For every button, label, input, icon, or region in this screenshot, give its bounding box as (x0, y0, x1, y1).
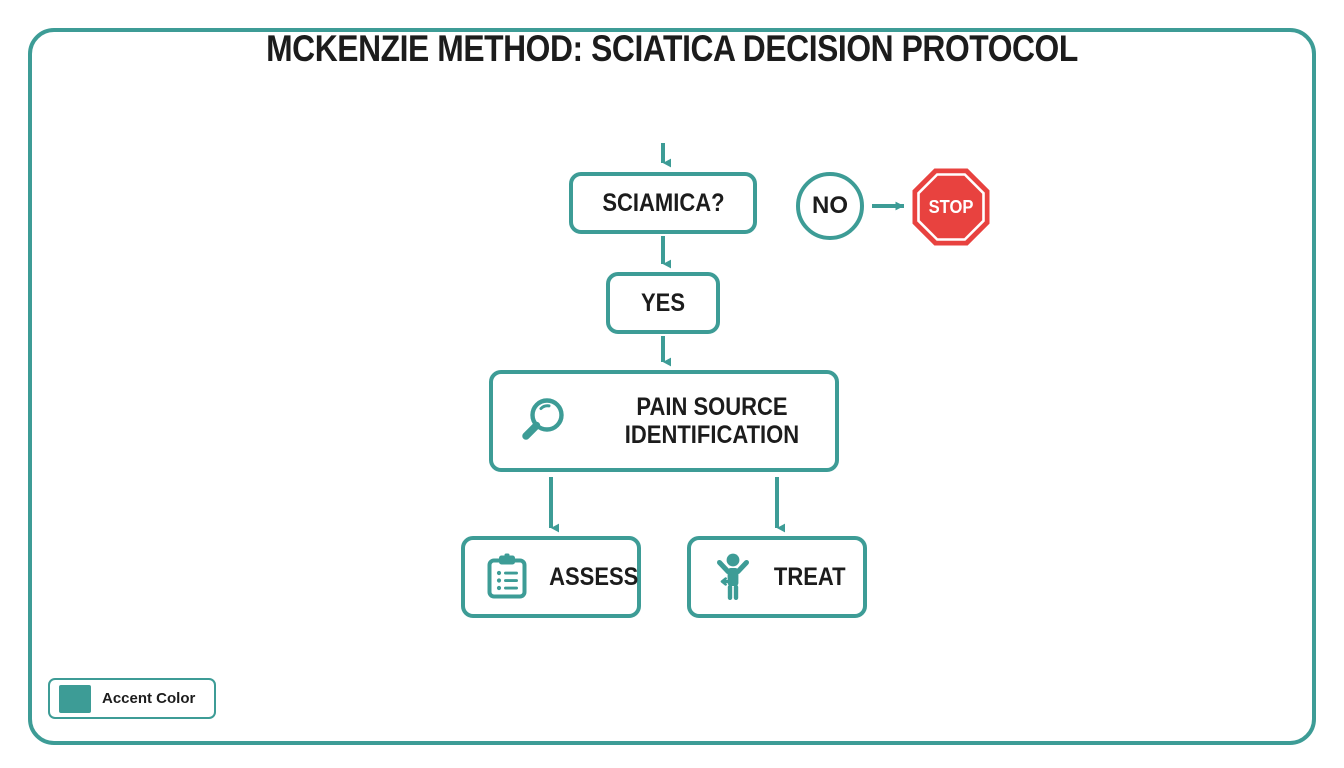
node-yes-branch[interactable]: YES (606, 272, 720, 334)
node-pain-source-identification[interactable]: PAIN SOURCE IDENTIFICATION (489, 370, 839, 472)
node-stop[interactable]: STOP (911, 167, 991, 247)
stop-sign-label: STOP (914, 167, 988, 247)
node-assess-label: ASSESS (549, 563, 638, 591)
node-decision-sciatica[interactable]: SCIAMICA? (569, 172, 757, 234)
node-decision-label: SCIAMICA? (602, 189, 724, 217)
node-treat-label: TREAT (774, 563, 846, 591)
node-pain-source-line1: PAIN SOURCE (636, 393, 787, 421)
node-treat[interactable]: TREAT (687, 536, 867, 618)
node-no-branch[interactable]: NO (796, 172, 864, 240)
node-pain-source-label: PAIN SOURCE IDENTIFICATION (604, 393, 820, 449)
person-exercise-icon (711, 552, 755, 602)
node-no-label: NO (812, 192, 848, 220)
node-assess[interactable]: ASSESS (461, 536, 641, 618)
node-pain-source-line2: IDENTIFICATION (625, 421, 799, 449)
clipboard-checklist-icon (485, 553, 529, 601)
magnifying-glass-icon (515, 393, 571, 449)
legend: Accent Color (48, 678, 216, 719)
legend-label: Accent Color (102, 690, 195, 707)
legend-color-swatch (59, 685, 91, 713)
node-yes-label: YES (641, 289, 685, 317)
page-title: MCKENZIE METHOD: SCIATICA DECISION PROTO… (94, 28, 1250, 70)
